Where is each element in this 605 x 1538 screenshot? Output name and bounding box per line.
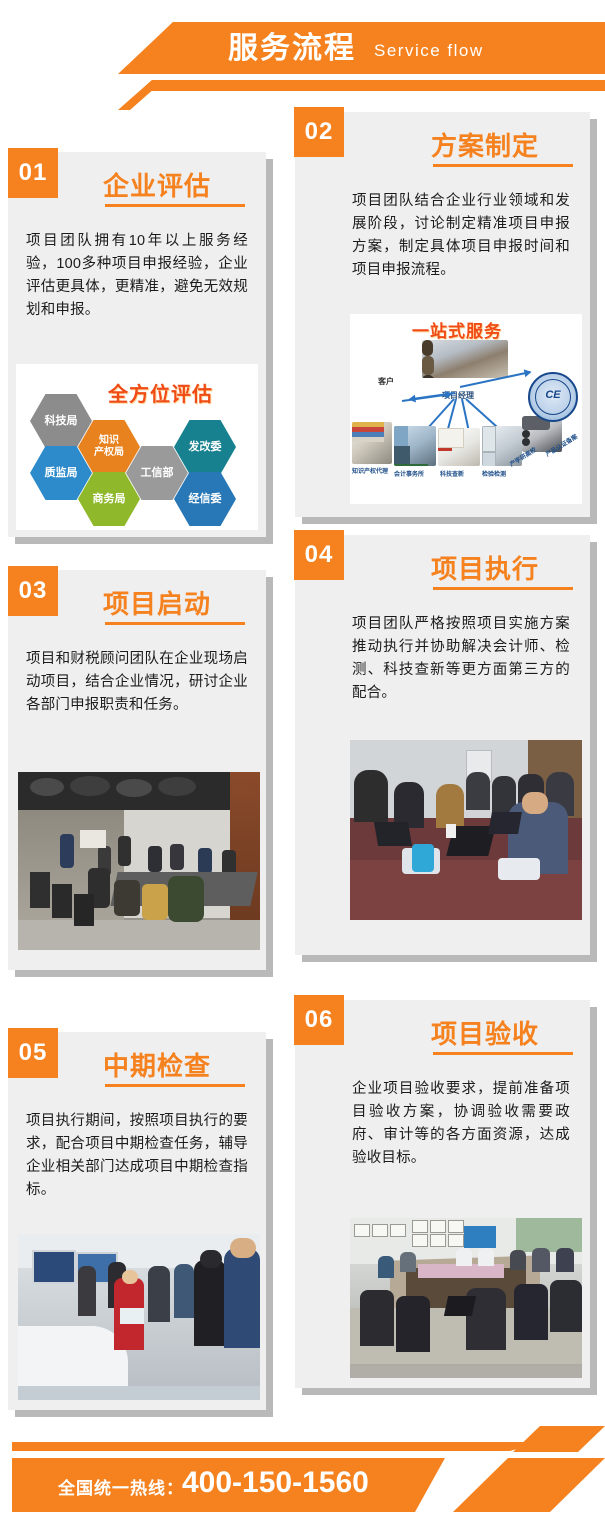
hexagon-figure-title: 全方位评估: [108, 378, 213, 407]
header-stripe: [140, 80, 605, 91]
one-stop-service-figure: 一站式服务 客户 项目经理: [350, 314, 582, 504]
step-body-02: 项目团队结合企业行业领域和发展阶段，讨论制定精准项目申报方案，制定具体项目申报时…: [352, 190, 570, 282]
page-title: 服务流程: [228, 28, 356, 70]
oss-branch-photo-ip: [352, 422, 392, 464]
footer-stripe: [12, 1442, 540, 1451]
step-badge-02: 02: [294, 107, 344, 157]
header-stripe-diagonal: [118, 80, 164, 110]
oss-label-accounting: 会计事务所: [394, 469, 424, 478]
seal-text: CE: [530, 389, 576, 401]
oss-label-customer: 客户: [378, 376, 394, 387]
step-photo-03: [18, 772, 260, 950]
title-underline-02: [433, 164, 573, 167]
oss-branch-photo-accounting: [394, 426, 436, 466]
page-subtitle: Service flow: [374, 41, 484, 61]
step-card-04: 04 项目执行 项目团队严格按照项目实施方案推动执行并协助解决会计师、检测、科技…: [295, 535, 590, 955]
title-underline-03: [105, 622, 245, 625]
step-body-04: 项目团队严格按照项目实施方案推动执行并协助解决会计师、检测、科技查新等更方面第三…: [352, 613, 570, 705]
oss-label-ip-agency: 知识产权代理: [352, 466, 388, 475]
oss-center-photo: [422, 340, 508, 378]
step-card-02: 02 方案制定 项目团队结合企业行业领域和发展阶段，讨论制定精准项目申报方案，制…: [295, 112, 590, 517]
step-card-06: 06 项目验收 企业项目验收要求，提前准备项目验收方案，协调验收需要政府、审计等…: [295, 1000, 590, 1388]
step-title-06: 项目验收: [431, 1014, 539, 1051]
oss-branch-photo-search: [438, 428, 480, 466]
step-title-04: 项目执行: [431, 549, 539, 586]
step-body-01: 项目团队拥有10年以上服务经验，100多种项目申报经验，企业评估更具体，更精准，…: [26, 230, 248, 322]
step-title-02: 方案制定: [431, 126, 539, 163]
step-badge-03: 03: [8, 566, 58, 616]
step-badge-06: 06: [294, 995, 344, 1045]
hotline-label: 全国统一热线：: [58, 1474, 184, 1499]
step-card-01: 01 企业评估 项目团队拥有10年以上服务经验，100多种项目申报经验，企业评估…: [8, 152, 266, 537]
header-banner-bar: [120, 22, 605, 74]
step-badge-05: 05: [8, 1028, 58, 1078]
step-body-05: 项目执行期间，按照项目执行的要求，配合项目中期检查任务，辅导企业相关部门达成项目…: [26, 1110, 248, 1202]
title-underline-05: [105, 1084, 245, 1087]
oss-label-tech-search: 科技查新: [440, 469, 464, 478]
oss-label-inspection: 检验检测: [482, 469, 506, 478]
step-badge-04: 04: [294, 530, 344, 580]
page-footer: 全国统一热线： 400-150-1560: [0, 1398, 605, 1538]
step-body-03: 项目和财税顾问团队在企业现场启动项目，结合企业情况，研讨企业各部门申报职责和任务…: [26, 648, 248, 717]
one-stop-service-title: 一站式服务: [412, 317, 502, 342]
hotline-phone[interactable]: 400-150-1560: [182, 1466, 369, 1500]
step-title-01: 企业评估: [103, 166, 211, 203]
step-badge-01: 01: [8, 148, 58, 198]
title-underline-04: [433, 587, 573, 590]
step-body-06: 企业项目验收要求，提前准备项目验收方案，协调验收需要政府、审计等的各方面资源，达…: [352, 1078, 570, 1170]
step-title-05: 中期检查: [103, 1046, 211, 1083]
page-header: 服务流程 Service flow: [0, 0, 605, 110]
step-photo-06: [350, 1218, 582, 1378]
title-underline-01: [105, 204, 245, 207]
assessment-hexagon-figure: 全方位评估 科技局 知识 产权局 质监局 工信部 商务局 发改委 经信委: [16, 364, 258, 530]
step-photo-04: [350, 740, 582, 930]
oss-certification-seal: CE: [528, 372, 578, 422]
step-card-03: 03 项目启动 项目和财税顾问团队在企业现场启动项目，结合企业情况，研讨企业各部…: [8, 570, 266, 970]
step-title-03: 项目启动: [103, 584, 211, 621]
footer-bar-diagonal: [430, 1458, 605, 1512]
service-flow-infographic: 服务流程 Service flow 01 企业评估 项目团队拥有10年以上服务经…: [0, 0, 605, 1538]
step-card-05: 05 中期检查 项目执行期间，按照项目执行的要求，配合项目中期检查任务，辅导企业…: [8, 1032, 266, 1410]
title-underline-06: [433, 1052, 573, 1055]
step-photo-05: [18, 1234, 260, 1400]
